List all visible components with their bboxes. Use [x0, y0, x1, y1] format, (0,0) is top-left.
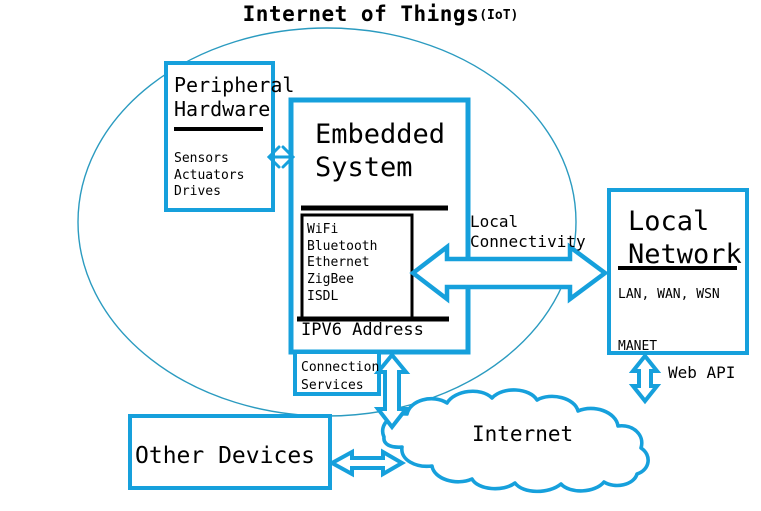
page-title: Internet of Things(IoT) [0, 3, 761, 27]
iot-diagram-canvas: Internet of Things(IoT) Peripheral Hardw… [0, 0, 761, 511]
peripheral-hardware-items: Sensors Actuators Drives [174, 151, 244, 201]
local-network-heading: Local Network [628, 205, 742, 272]
local-connectivity-label: Local Connectivity [470, 212, 586, 252]
embedded-system-ipv6-label: IPV6 Address [301, 321, 424, 340]
internet-cloud-label: Internet [472, 423, 573, 447]
embedded-system-protocol-list: WiFi Bluetooth Ethernet ZigBee ISDL [307, 222, 377, 305]
page-title-main: Internet of Things [243, 2, 480, 26]
peripheral-hardware-heading: Peripheral Hardware [174, 74, 294, 121]
page-title-abbrev: (IoT) [479, 8, 518, 23]
local-network-items: LAN, WAN, WSN MANET [618, 282, 720, 360]
arrow-other-devices-to-internet [332, 452, 402, 474]
embedded-system-heading: Embedded System [315, 118, 445, 185]
arrow-local-network-to-internet [633, 356, 657, 401]
arrow-embedded-to-internet [378, 355, 406, 427]
other-devices-label: Other Devices [135, 444, 315, 470]
web-api-label: Web API [668, 363, 735, 383]
connection-services-label: Connection Services [301, 359, 379, 394]
arrow-embedded-to-local-network [413, 247, 605, 299]
